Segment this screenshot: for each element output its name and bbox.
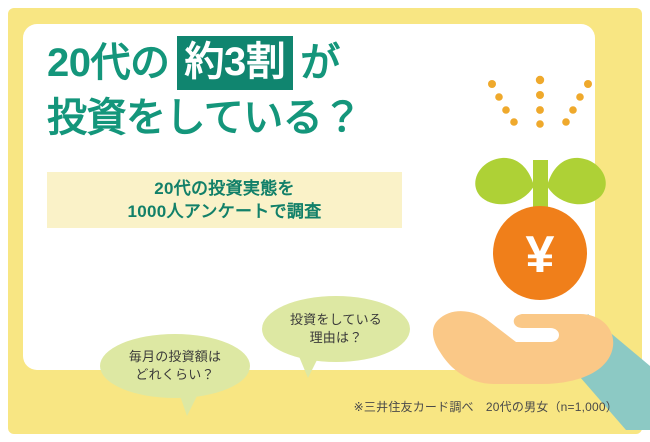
headline-line-2: 投資をしている？ xyxy=(47,94,467,142)
speech-bubble-tail xyxy=(298,354,320,378)
headline-highlight-ratio: 約3割 xyxy=(177,36,294,90)
speech-bubble-monthly-amount-body: 毎月の投資額は どれくらい？ xyxy=(100,334,250,398)
speech-bubble-reason-line-2: 理由は？ xyxy=(310,329,363,347)
speech-bubble-tail xyxy=(178,390,200,416)
infographic-card: 20代の 約3割 が 投資をしている？ 20代の投資実態を 1000人アンケート… xyxy=(0,0,650,442)
headline-prefix: 20代の xyxy=(47,39,170,87)
footer-source-credit: ※三井住友カード調べ 20代の男女（n=1,000） xyxy=(354,398,618,415)
speech-bubble-reason-body: 投資をしている 理由は？ xyxy=(262,296,410,362)
subtitle-line-1: 20代の投資実態を xyxy=(154,177,295,200)
speech-bubble-monthly-amount-line-1: 毎月の投資額は xyxy=(129,348,221,366)
subtitle-banner: 20代の投資実態を 1000人アンケートで調査 xyxy=(47,172,402,228)
speech-bubble-reason-line-1: 投資をしている xyxy=(290,311,382,329)
headline-line-1: 20代の 約3割 が xyxy=(47,36,467,90)
speech-bubble-monthly-amount: 毎月の投資額は どれくらい？ xyxy=(100,334,250,398)
headline: 20代の 約3割 が 投資をしている？ xyxy=(47,36,467,142)
subtitle-line-2: 1000人アンケートで調査 xyxy=(127,200,321,223)
speech-bubble-reason: 投資をしている 理由は？ xyxy=(262,296,410,362)
headline-suffix: が xyxy=(300,39,340,87)
speech-bubble-monthly-amount-line-2: どれくらい？ xyxy=(135,366,214,384)
